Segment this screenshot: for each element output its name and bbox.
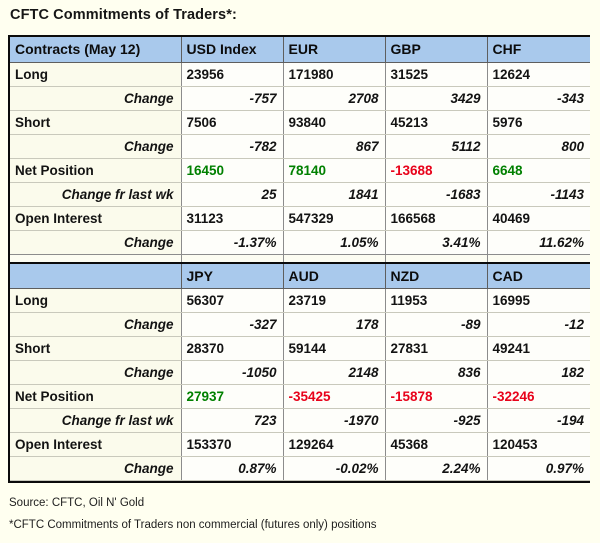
table-row: Open Interest 153370 129264 45368 120453 [10,432,590,456]
table-row: Change -327 178 -89 -12 [10,312,590,336]
table-1-long-3: 12624 [487,62,590,86]
table-2-net-0: 27937 [181,384,283,408]
cot-report-page: CFTC Commitments of Traders*: Contracts … [0,0,600,543]
table-1-oi-change-1: 1.05% [283,230,385,254]
table-1-long-change-3: -343 [487,86,590,110]
page-title: CFTC Commitments of Traders*: [10,7,237,23]
table-2-short-0: 28370 [181,336,283,360]
table-1-short-0: 7506 [181,110,283,134]
row-label-long: Long [10,288,181,312]
table-1-col-header-1: EUR [283,37,385,62]
row-label-short-change: Change [10,134,181,158]
row-label-open-interest: Open Interest [10,206,181,230]
table-2-header-label [10,263,181,288]
table-2-oi-3: 120453 [487,432,590,456]
table-2-long-change-2: -89 [385,312,487,336]
table-2-short-change-3: 182 [487,360,590,384]
table-row: Short 7506 93840 45213 5976 [10,110,590,134]
row-label-long: Long [10,62,181,86]
row-label-oi-change: Change [10,230,181,254]
table-1-short-change-1: 867 [283,134,385,158]
row-label-long-change: Change [10,86,181,110]
table-2-long-change-1: 178 [283,312,385,336]
table-1-net-3: 6648 [487,158,590,182]
row-label-net-position: Net Position [10,384,181,408]
table-2-short-change-2: 836 [385,360,487,384]
divider-cell [10,254,181,263]
table-2-net-change-1: -1970 [283,408,385,432]
row-label-short: Short [10,336,181,360]
table-row: Change -757 2708 3429 -343 [10,86,590,110]
source-note: Source: CFTC, Oil N' Gold [9,497,144,509]
table-2-short-1: 59144 [283,336,385,360]
table-2-net-3: -32246 [487,384,590,408]
table-1-oi-change-0: -1.37% [181,230,283,254]
table-1-net-2: -13688 [385,158,487,182]
footnote: *CFTC Commitments of Traders non commerc… [9,519,376,531]
table-1-oi-change-3: 11.62% [487,230,590,254]
table-row: Open Interest 31123 547329 166568 40469 [10,206,590,230]
table-1-long-change-2: 3429 [385,86,487,110]
table-2-net-change-0: 723 [181,408,283,432]
row-label-net-change: Change fr last wk [10,408,181,432]
table-1-header-row: Contracts (May 12) USD Index EUR GBP CHF [10,37,590,62]
table-1-short-change-3: 800 [487,134,590,158]
table-2-oi-change-2: 2.24% [385,456,487,480]
table-2-short-change-1: 2148 [283,360,385,384]
table-2-oi-change-3: 0.97% [487,456,590,480]
row-label-short: Short [10,110,181,134]
table-2-col-header-3: CAD [487,263,590,288]
table-2-short-2: 27831 [385,336,487,360]
table-2-col-header-0: JPY [181,263,283,288]
table-1-oi-2: 166568 [385,206,487,230]
table-1-short-3: 5976 [487,110,590,134]
table-2-oi-change-0: 0.87% [181,456,283,480]
table-1-oi-1: 547329 [283,206,385,230]
table-2-net-2: -15878 [385,384,487,408]
table-2-net-1: -35425 [283,384,385,408]
table-row: Change -1050 2148 836 182 [10,360,590,384]
table-2-short-3: 49241 [487,336,590,360]
cot-table-container: Contracts (May 12) USD Index EUR GBP CHF… [8,35,590,483]
table-2-header-row: JPY AUD NZD CAD [10,263,590,288]
table-1-short-change-2: 5112 [385,134,487,158]
table-1-net-1: 78140 [283,158,385,182]
table-1-oi-change-2: 3.41% [385,230,487,254]
table-1-col-header-3: CHF [487,37,590,62]
table-2-long-1: 23719 [283,288,385,312]
table-row: Change 0.87% -0.02% 2.24% 0.97% [10,456,590,480]
table-1-short-1: 93840 [283,110,385,134]
table-1-long-change-0: -757 [181,86,283,110]
table-2-oi-0: 153370 [181,432,283,456]
table-1-col-header-0: USD Index [181,37,283,62]
table-2-net-change-2: -925 [385,408,487,432]
table-row: Change fr last wk 723 -1970 -925 -194 [10,408,590,432]
row-label-net-position: Net Position [10,158,181,182]
row-label-oi-change: Change [10,456,181,480]
table-2-long-3: 16995 [487,288,590,312]
table-1-long-0: 23956 [181,62,283,86]
divider-cell [487,254,590,263]
table-row: Short 28370 59144 27831 49241 [10,336,590,360]
cot-table: Contracts (May 12) USD Index EUR GBP CHF… [10,37,590,481]
table-row: Net Position 27937 -35425 -15878 -32246 [10,384,590,408]
table-1-col-header-2: GBP [385,37,487,62]
table-2-col-header-1: AUD [283,263,385,288]
table-row: Long 23956 171980 31525 12624 [10,62,590,86]
table-2-oi-2: 45368 [385,432,487,456]
row-label-net-change: Change fr last wk [10,182,181,206]
table-1-net-change-0: 25 [181,182,283,206]
table-2-long-0: 56307 [181,288,283,312]
table-2-long-2: 11953 [385,288,487,312]
table-1-net-0: 16450 [181,158,283,182]
table-2-oi-change-1: -0.02% [283,456,385,480]
table-2-short-change-0: -1050 [181,360,283,384]
table-row: Change -1.37% 1.05% 3.41% 11.62% [10,230,590,254]
table-1-net-change-1: 1841 [283,182,385,206]
divider-cell [385,254,487,263]
table-1-header-label: Contracts (May 12) [10,37,181,62]
table-row: Net Position 16450 78140 -13688 6648 [10,158,590,182]
row-label-open-interest: Open Interest [10,432,181,456]
table-row: Long 56307 23719 11953 16995 [10,288,590,312]
table-1-oi-0: 31123 [181,206,283,230]
table-1-long-2: 31525 [385,62,487,86]
table-2-oi-1: 129264 [283,432,385,456]
table-2-net-change-3: -194 [487,408,590,432]
table-1-short-change-0: -782 [181,134,283,158]
table-1-net-change-3: -1143 [487,182,590,206]
table-1-long-change-1: 2708 [283,86,385,110]
table-2-long-change-0: -327 [181,312,283,336]
table-row: Change -782 867 5112 800 [10,134,590,158]
row-label-short-change: Change [10,360,181,384]
divider-cell [181,254,283,263]
table-2-col-header-2: NZD [385,263,487,288]
table-row: Change fr last wk 25 1841 -1683 -1143 [10,182,590,206]
table-section-divider [10,254,590,263]
row-label-long-change: Change [10,312,181,336]
table-1-short-2: 45213 [385,110,487,134]
table-1-long-1: 171980 [283,62,385,86]
table-1-net-change-2: -1683 [385,182,487,206]
table-1-oi-3: 40469 [487,206,590,230]
divider-cell [283,254,385,263]
table-2-long-change-3: -12 [487,312,590,336]
